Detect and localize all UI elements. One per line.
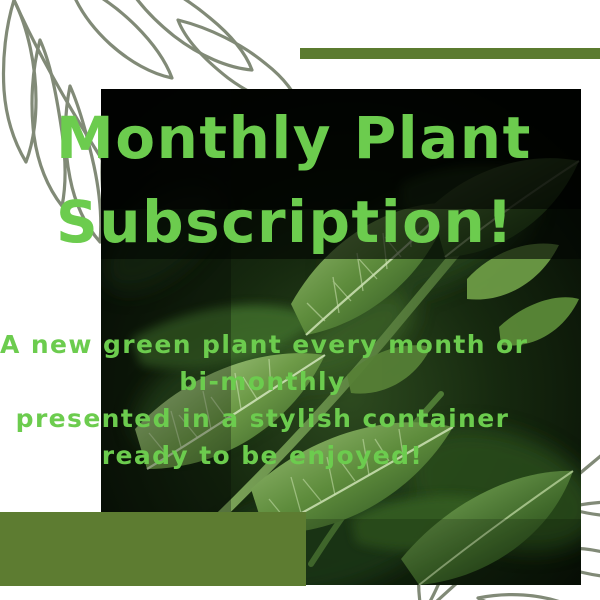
body-line-1: A new green plant every month or (0, 326, 525, 363)
body-line-2: bi-monthly (0, 363, 525, 400)
body-line-4: ready to be enjoyed! (0, 437, 525, 474)
olive-accent-bar-top (300, 48, 600, 59)
page-title: Monthly Plant Subscription! (56, 96, 576, 264)
body-line-3: presented in a stylish container (0, 400, 525, 437)
headline-line-2: Subscription! (56, 180, 576, 264)
body-copy: A new green plant every month or bi-mont… (0, 326, 525, 474)
headline-line-1: Monthly Plant (56, 96, 576, 180)
poster-canvas: Monthly Plant Subscription! A new green … (0, 0, 600, 600)
olive-accent-block-bottom (0, 512, 306, 586)
